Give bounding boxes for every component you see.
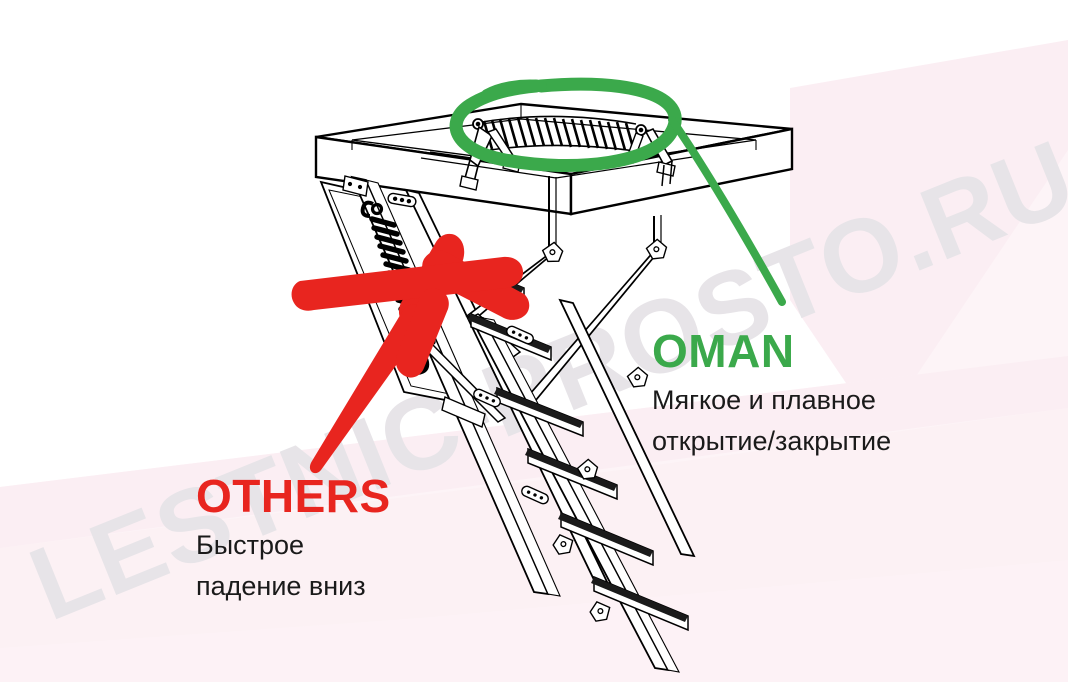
green-highlight-ellipse: [456, 84, 675, 165]
annotation-marks: [0, 0, 1068, 682]
infographic-canvas: LESTNIC-PROSTO.RU: [0, 0, 1068, 682]
green-pointer-line: [672, 120, 782, 302]
red-arrow: [292, 234, 530, 473]
